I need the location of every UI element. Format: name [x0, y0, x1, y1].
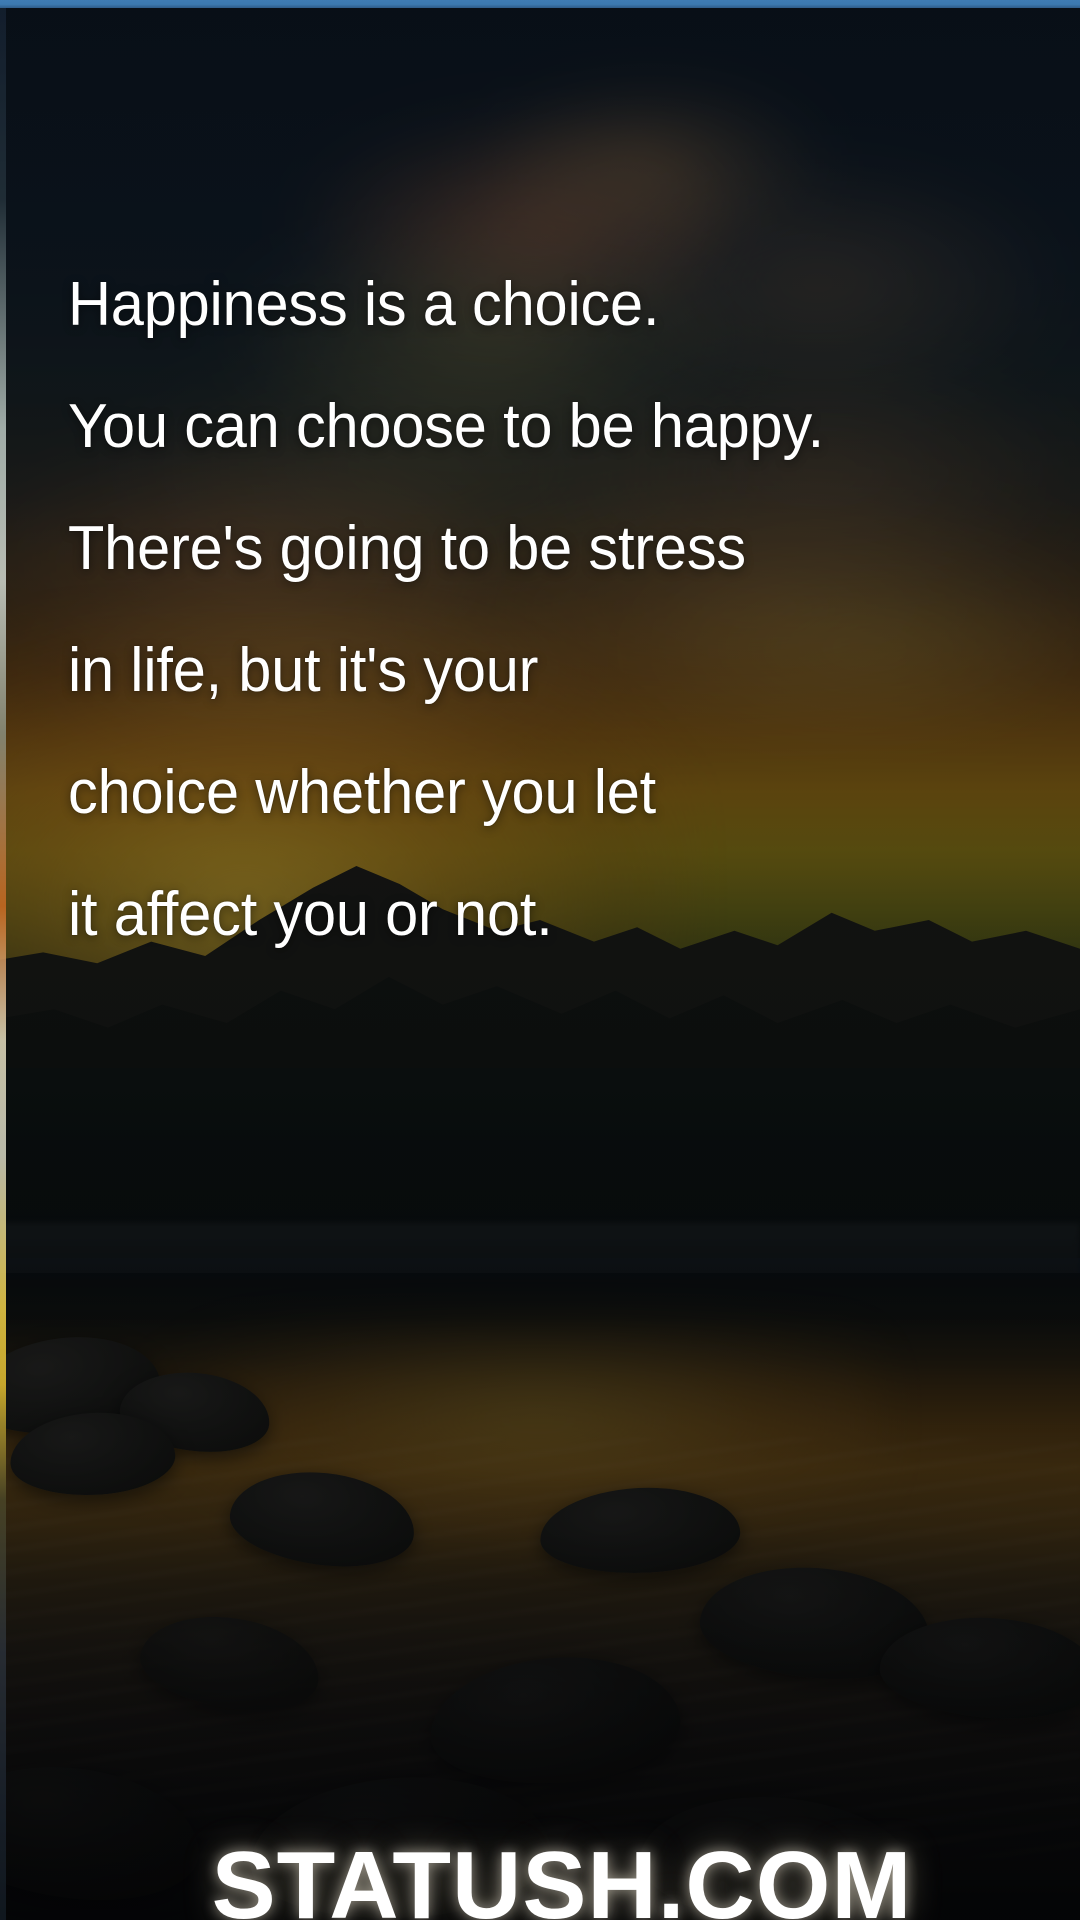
quote-line-6: it affect you or not.	[68, 884, 553, 946]
quote-line-4: in life, but it's your	[68, 640, 538, 702]
site-watermark: STATUSH.COM	[0, 1838, 1080, 1920]
quote-line-2: You can choose to be happy.	[68, 396, 824, 458]
quote-line-1: Happiness is a choice.	[68, 274, 659, 336]
left-edge-artifact	[0, 8, 6, 1920]
quote-text-block: Happiness is a choice. You can choose to…	[0, 0, 1080, 1920]
quote-image-canvas: Happiness is a choice. You can choose to…	[0, 0, 1080, 1920]
browser-chrome-strip	[0, 0, 1080, 8]
quote-line-3: There's going to be stress	[68, 518, 746, 580]
quote-line-5: choice whether you let	[68, 762, 656, 824]
